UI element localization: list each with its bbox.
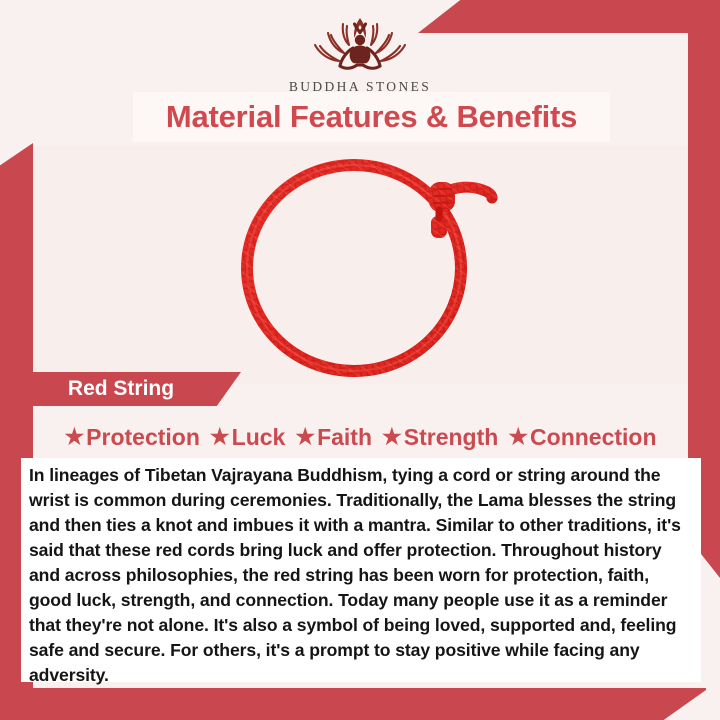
section-ribbon-label: Red String xyxy=(21,372,221,406)
frame-bottom-hairline xyxy=(0,688,706,690)
product-info-poster: BUDDHA STONES Material Features & Benefi… xyxy=(0,0,720,720)
hero-product-image xyxy=(33,146,688,384)
frame-bottom-accent xyxy=(0,690,706,720)
feature-label: Strength xyxy=(404,424,499,451)
star-icon: ★ xyxy=(64,426,84,448)
feature-label: Protection xyxy=(86,424,200,451)
feature-item-protection: ★ Protection xyxy=(64,424,209,451)
description-text: In lineages of Tibetan Vajrayana Buddhis… xyxy=(29,463,693,688)
brand-logo: BUDDHA STONES xyxy=(0,14,720,95)
description-panel: In lineages of Tibetan Vajrayana Buddhis… xyxy=(21,458,701,682)
feature-item-luck: ★ Luck xyxy=(210,424,295,451)
feature-label: Faith xyxy=(317,424,372,451)
red-braided-string-bracelet xyxy=(211,146,511,384)
feature-item-connection: ★ Connection xyxy=(508,424,656,451)
feature-item-faith: ★ Faith xyxy=(295,424,382,451)
star-icon: ★ xyxy=(508,426,528,448)
feature-list: ★ Protection ★ Luck ★ Faith ★ Strength ★… xyxy=(33,418,688,456)
lotus-meditation-figure-icon xyxy=(301,14,419,76)
feature-label: Connection xyxy=(530,424,657,451)
bracelet-knot xyxy=(429,182,455,212)
feature-label: Luck xyxy=(232,424,286,451)
feature-item-strength: ★ Strength xyxy=(382,424,508,451)
star-icon: ★ xyxy=(382,426,402,448)
star-icon: ★ xyxy=(295,426,315,448)
page-title: Material Features & Benefits xyxy=(133,92,610,142)
star-icon: ★ xyxy=(210,426,230,448)
